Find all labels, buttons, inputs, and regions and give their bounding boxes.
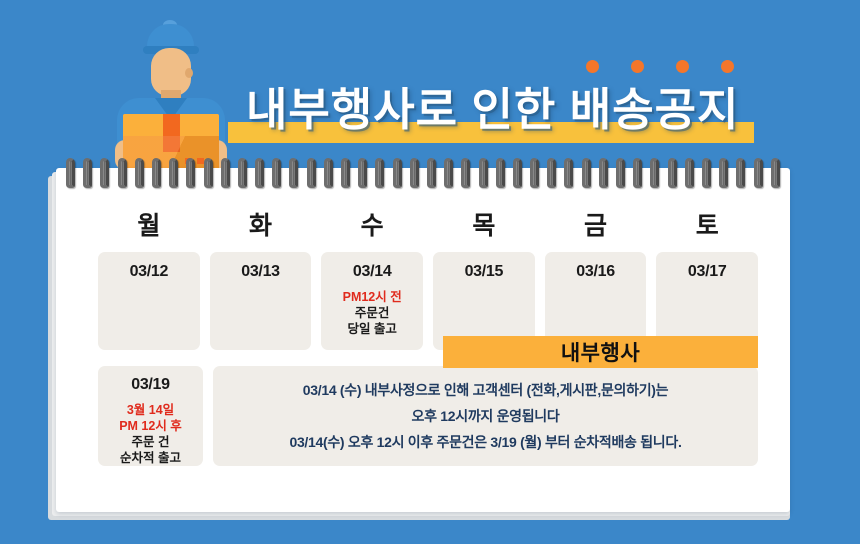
calendar-day-header-row: 월 화 수 목 금 토	[98, 206, 758, 242]
spiral-ring-icon	[530, 158, 539, 192]
spiral-ring-icon	[83, 158, 92, 192]
cell-date: 03/15	[433, 263, 535, 281]
cell-date: 03/19	[98, 376, 203, 394]
cell-date: 03/16	[545, 263, 647, 281]
delivery-notice-poster: 내부행사로 인한 배송공지	[0, 0, 860, 544]
spiral-ring-icon	[135, 158, 144, 192]
cell-date: 03/13	[210, 263, 312, 281]
spiral-ring-icon	[375, 158, 384, 192]
day-header-wed: 수	[321, 206, 423, 242]
spiral-ring-icon	[272, 158, 281, 192]
spiral-ring-icon	[204, 158, 213, 192]
spiral-ring-icon	[719, 158, 728, 192]
notice-line: 03/14 (수) 내부사정으로 인해 고객센터 (전화,게시판,문의하기)는	[303, 380, 668, 400]
cell-note-red-2: PM 12시 후	[98, 418, 203, 434]
spiral-ring-icon	[771, 158, 780, 192]
spiral-ring-icon	[341, 158, 350, 192]
spiral-ring-icon	[238, 158, 247, 192]
spiral-ring-icon	[66, 158, 75, 192]
decorative-dot-icon	[676, 60, 689, 73]
day-header-tue: 화	[210, 206, 312, 242]
spiral-ring-icon	[564, 158, 573, 192]
spiral-ring-icon	[307, 158, 316, 192]
spiral-ring-icon	[582, 158, 591, 192]
cell-date: 03/12	[98, 263, 200, 281]
cell-note-red: PM12시 전	[321, 289, 423, 305]
calendar-date-row: 03/12 03/13 03/14 PM12시 전 주문건 당일 출고 03/1…	[98, 252, 758, 350]
spiral-ring-icon	[479, 158, 488, 192]
spiral-ring-icon	[169, 158, 178, 192]
cell-note-black-2: 당일 출고	[321, 321, 423, 337]
page-title: 내부행사로 인한 배송공지	[246, 73, 739, 138]
spiral-ring-icon	[410, 158, 419, 192]
day-header-thu: 목	[433, 206, 535, 242]
spiral-ring-icon	[393, 158, 402, 192]
spiral-ring-icon	[754, 158, 763, 192]
spiral-ring-icon	[685, 158, 694, 192]
cell-note-red-1: 3월 14일	[98, 402, 203, 418]
day-header-fri: 금	[545, 206, 647, 242]
spiral-ring-icon	[547, 158, 556, 192]
delivery-man-illustration	[105, 24, 235, 176]
spiral-ring-icon	[255, 158, 264, 192]
day-header-sat: 토	[656, 206, 758, 242]
calendar-bottom-row: 03/19 3월 14일 PM 12시 후 주문 건 순차적 출고 03/14 …	[98, 366, 758, 466]
day-header-mon: 월	[98, 206, 200, 242]
spiral-ring-icon	[324, 158, 333, 192]
spiral-ring-icon	[221, 158, 230, 192]
spiral-ring-icon	[358, 158, 367, 192]
spiral-ring-icon	[186, 158, 195, 192]
decorative-dot-icon	[631, 60, 644, 73]
spiral-ring-icon	[461, 158, 470, 192]
spiral-binding	[56, 158, 790, 194]
spiral-ring-icon	[152, 158, 161, 192]
notice-panel: 03/14 (수) 내부사정으로 인해 고객센터 (전화,게시판,문의하기)는 …	[213, 366, 758, 466]
spiral-ring-icon	[650, 158, 659, 192]
event-banner: 내부행사	[443, 336, 758, 368]
spiral-ring-icon	[496, 158, 505, 192]
ear-shape	[185, 68, 193, 78]
cell-date: 03/14	[321, 263, 423, 281]
decorative-dot-icon	[586, 60, 599, 73]
spiral-ring-icon	[599, 158, 608, 192]
spiral-ring-icon	[702, 158, 711, 192]
decorative-dots	[586, 60, 734, 73]
cell-note-black-1: 주문건	[321, 305, 423, 321]
spiral-ring-icon	[736, 158, 745, 192]
cell-note: PM12시 전 주문건 당일 출고	[321, 289, 423, 337]
spiral-ring-icon	[444, 158, 453, 192]
notice-line: 오후 12시까지 운영됩니다	[412, 406, 560, 426]
calendar-cell: 03/12	[98, 252, 200, 350]
spiral-ring-icon	[289, 158, 298, 192]
spiral-ring-icon	[427, 158, 436, 192]
spiral-ring-icon	[633, 158, 642, 192]
notice-line: 03/14(수) 오후 12시 이후 주문건은 3/19 (월) 부터 순차적배…	[289, 432, 681, 452]
cell-date: 03/17	[656, 263, 758, 281]
calendar-cell: 03/13	[210, 252, 312, 350]
calendar-cell-followup: 03/19 3월 14일 PM 12시 후 주문 건 순차적 출고	[98, 366, 203, 466]
cell-note-black-1: 주문 건	[98, 434, 203, 450]
spiral-ring-icon	[100, 158, 109, 192]
spiral-ring-icon	[616, 158, 625, 192]
cell-note: 3월 14일 PM 12시 후 주문 건 순차적 출고	[98, 402, 203, 466]
decorative-dot-icon	[721, 60, 734, 73]
calendar-cell: 03/14 PM12시 전 주문건 당일 출고	[321, 252, 423, 350]
cell-note-black-2: 순차적 출고	[98, 450, 203, 466]
spiral-ring-icon	[118, 158, 127, 192]
spiral-ring-icon	[668, 158, 677, 192]
calendar: 월 화 수 목 금 토 03/12 03/13 03/14 PM12시 전 주문…	[98, 206, 758, 466]
spiral-ring-icon	[513, 158, 522, 192]
